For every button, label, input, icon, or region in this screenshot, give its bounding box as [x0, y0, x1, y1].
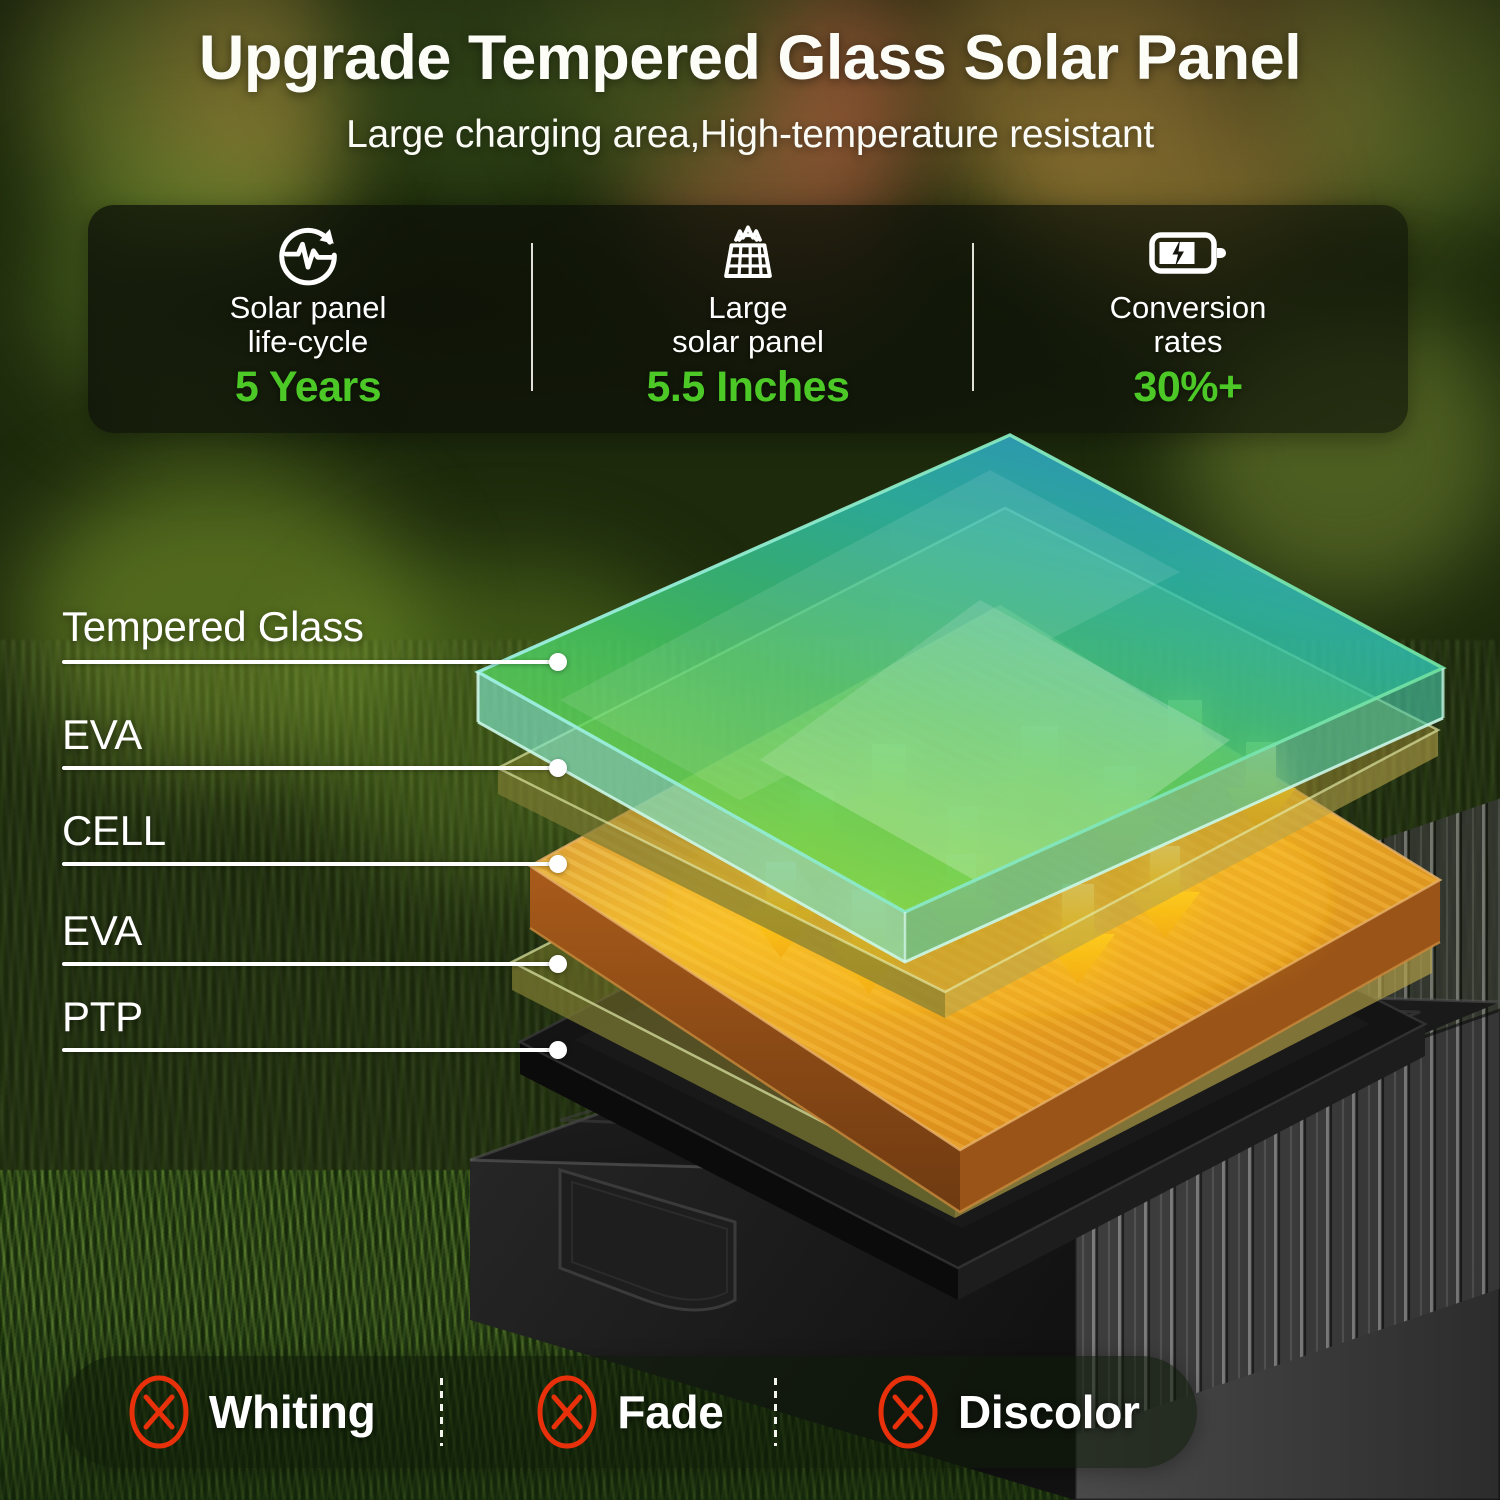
- badge-discolor: Discolor: [819, 1373, 1197, 1451]
- exploded-panel-illustration: [0, 0, 1500, 1500]
- badge-label: Fade: [617, 1385, 723, 1439]
- leader-dot: [549, 855, 567, 873]
- leader-line: [62, 766, 558, 770]
- leader-dot: [549, 653, 567, 671]
- leader-dot: [549, 955, 567, 973]
- durability-badge-bar: Whiting Fade Discolor: [62, 1356, 1197, 1468]
- badge-whiting: Whiting: [62, 1373, 440, 1451]
- circle-x-icon: [127, 1373, 191, 1451]
- badge-fade: Fade: [440, 1373, 818, 1451]
- leader-line: [62, 962, 558, 966]
- layer-label-tempered-glass: Tempered Glass: [62, 604, 364, 650]
- layer-label-eva-lower: EVA: [62, 908, 142, 954]
- circle-x-icon: [535, 1373, 599, 1451]
- badge-divider: [440, 1378, 443, 1446]
- layer-label-ptp: PTP: [62, 994, 143, 1040]
- badge-label: Whiting: [209, 1385, 376, 1439]
- leader-line: [62, 862, 558, 866]
- leader-line: [62, 660, 558, 664]
- leader-dot: [549, 1041, 567, 1059]
- leader-line: [62, 1048, 558, 1052]
- leader-dot: [549, 759, 567, 777]
- badge-label: Discolor: [958, 1385, 1140, 1439]
- layer-label-eva-upper: EVA: [62, 712, 142, 758]
- circle-x-icon: [876, 1373, 940, 1451]
- infographic-stage: Upgrade Tempered Glass Solar Panel Large…: [0, 0, 1500, 1500]
- badge-divider: [774, 1378, 777, 1446]
- layer-label-cell: CELL: [62, 808, 166, 854]
